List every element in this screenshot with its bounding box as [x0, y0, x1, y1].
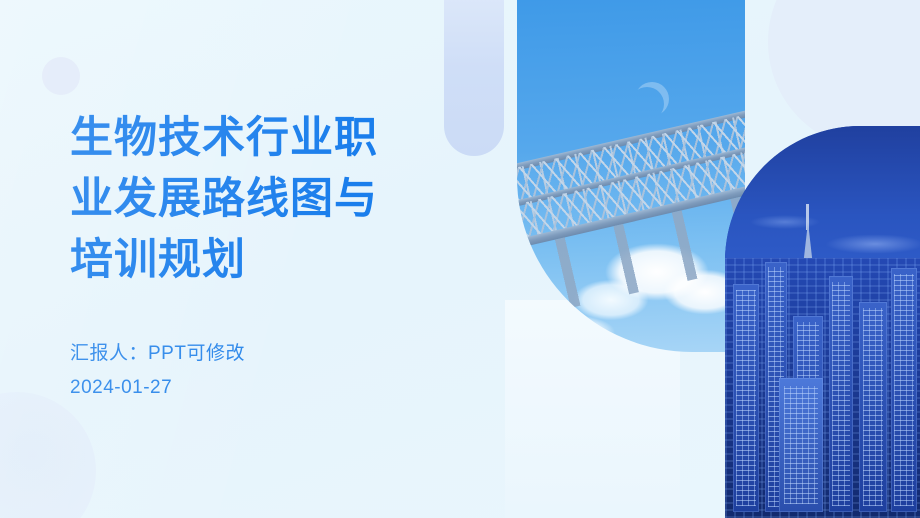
title-slide: 生物技术行业职 业发展路线图与 培训规划 汇报人：PPT可修改 2024-01-… [0, 0, 920, 518]
building-block-front [779, 378, 823, 512]
city-skyline-photo [725, 126, 920, 518]
building-block [859, 302, 887, 512]
window-grid [863, 308, 883, 506]
date-label: 2024-01-27 [70, 371, 440, 405]
circle-bottom-left-decoration [0, 392, 96, 518]
window-grid [832, 282, 850, 506]
title-text-block: 生物技术行业职 业发展路线图与 培训规划 汇报人：PPT可修改 2024-01-… [70, 108, 440, 405]
building-block [733, 284, 759, 512]
window-grid [784, 386, 818, 504]
presenter-label: 汇报人：PPT可修改 [70, 337, 440, 371]
page-title: 生物技术行业职 [70, 108, 440, 169]
window-grid [894, 274, 914, 506]
building-block [891, 268, 917, 512]
bridge-sky-photo [517, 0, 745, 352]
building-block [829, 276, 853, 512]
city-buildings [725, 258, 920, 518]
circle-top-left-decoration [42, 57, 80, 95]
page-title-line2: 业发展路线图与 [70, 169, 440, 230]
meta-block: 汇报人：PPT可修改 2024-01-27 [70, 337, 440, 405]
photo-composition [505, 0, 920, 518]
bridge-structure [517, 87, 745, 352]
page-title-line3: 培训规划 [70, 230, 440, 291]
window-grid [736, 290, 756, 506]
city-sky-band [725, 126, 920, 276]
pill-left-of-photo-decoration [444, 0, 504, 156]
